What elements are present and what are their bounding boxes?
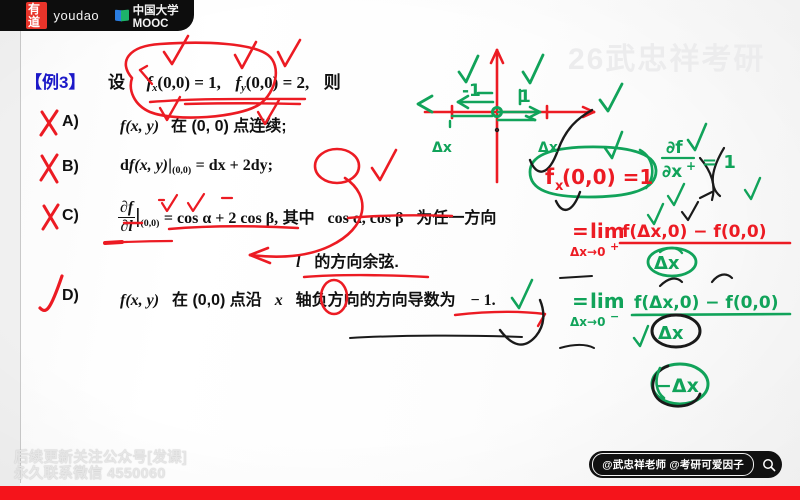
social-handle-pill[interactable]: @武忠祥老师 @考研可爱因子	[589, 451, 782, 478]
example-tag: 【例3】	[25, 68, 85, 93]
option-c-numerator: ∂f	[118, 200, 135, 218]
option-c-denominator: ∂l	[118, 218, 135, 235]
youdao-logo-icon: 有道	[26, 2, 47, 29]
center-watermark: 26武忠祥考研	[568, 34, 765, 78]
option-b-label: B)	[62, 158, 79, 176]
option-d-value: − 1.	[471, 292, 496, 309]
problem-statement: 设 fx(0,0) = 1, fy(0,0) = 2, 则	[108, 68, 341, 94]
option-d-var: x	[275, 292, 283, 309]
option-c-cos-part: cos α, cos β	[328, 210, 404, 227]
option-c-text: ∂f ∂l |(0,0) = cos α + 2 cos β, 其中 cos α…	[118, 200, 496, 236]
search-button[interactable]	[757, 453, 780, 476]
option-c-tail: 其中	[283, 210, 315, 227]
social-handles-text: @武忠祥老师 @考研可爱因子	[602, 457, 744, 472]
bottom-left-watermark: 后续更新关注公众号[发课] 永久联系微信 4550060	[14, 450, 187, 482]
option-c-line2: l 的方向余弦.	[296, 248, 399, 272]
option-d-args: (x, y)	[125, 292, 159, 309]
brand-logo-bar: 有道 youdao 中国大学MOOC	[0, 0, 194, 31]
option-b-text: df(x, y)|(0,0) = dx + 2dy;	[120, 157, 273, 176]
option-b-eval-point: (0,0)	[172, 165, 191, 176]
watermark-line-2: 永久联系微信 4550060	[14, 466, 187, 482]
option-c-label: C)	[62, 207, 79, 225]
fy-value: (0,0) = 2,	[246, 73, 310, 92]
option-a-text: f(x, y) 在 (0, 0) 点连续;	[120, 112, 287, 136]
option-b-post: = dx + 2dy;	[196, 157, 273, 174]
youdao-wordmark: youdao	[54, 8, 100, 23]
watermark-line-1: 后续更新关注公众号[发课]	[14, 450, 187, 466]
mooc-wordmark: 中国大学MOOC	[133, 2, 194, 30]
option-c-line2-rest: 的方向余弦.	[314, 254, 398, 271]
book-icon	[115, 10, 126, 21]
option-c-eval-point: (0,0)	[140, 218, 159, 229]
option-c-rhs: = cos α + 2 cos β,	[164, 210, 278, 227]
option-a-label: A)	[62, 113, 79, 131]
option-d-mid: 在 (0,0) 点沿	[172, 292, 262, 309]
option-b-d: d	[120, 157, 129, 174]
statement-lead: 设	[108, 73, 125, 92]
option-c-fraction: ∂f ∂l	[118, 200, 135, 236]
search-icon	[762, 458, 776, 472]
bottom-red-bar	[0, 486, 800, 500]
statement-tail: 则	[324, 73, 341, 92]
option-d-post: 轴负方向的方向导数为	[296, 292, 456, 309]
handle-inner-outline: @武忠祥老师 @考研可爱因子	[592, 453, 754, 476]
option-d-label: D)	[62, 287, 79, 305]
slide-canvas: 26武忠祥考研 【例3】 设 fx(0,0) = 1, fy(0,0) = 2,…	[0, 0, 800, 500]
option-c-tail2: 为任一方向	[416, 210, 496, 227]
fx-value: (0,0) = 1,	[157, 73, 221, 92]
option-a-post: 在 (0, 0) 点连续;	[171, 118, 287, 135]
option-a-args: (x, y)	[125, 118, 159, 135]
option-b-args: (x, y)	[134, 157, 168, 174]
option-c-direction-var: l	[296, 254, 300, 271]
option-d-text: f(x, y) 在 (0,0) 点沿 x 轴负方向的方向导数为 − 1.	[120, 286, 496, 310]
